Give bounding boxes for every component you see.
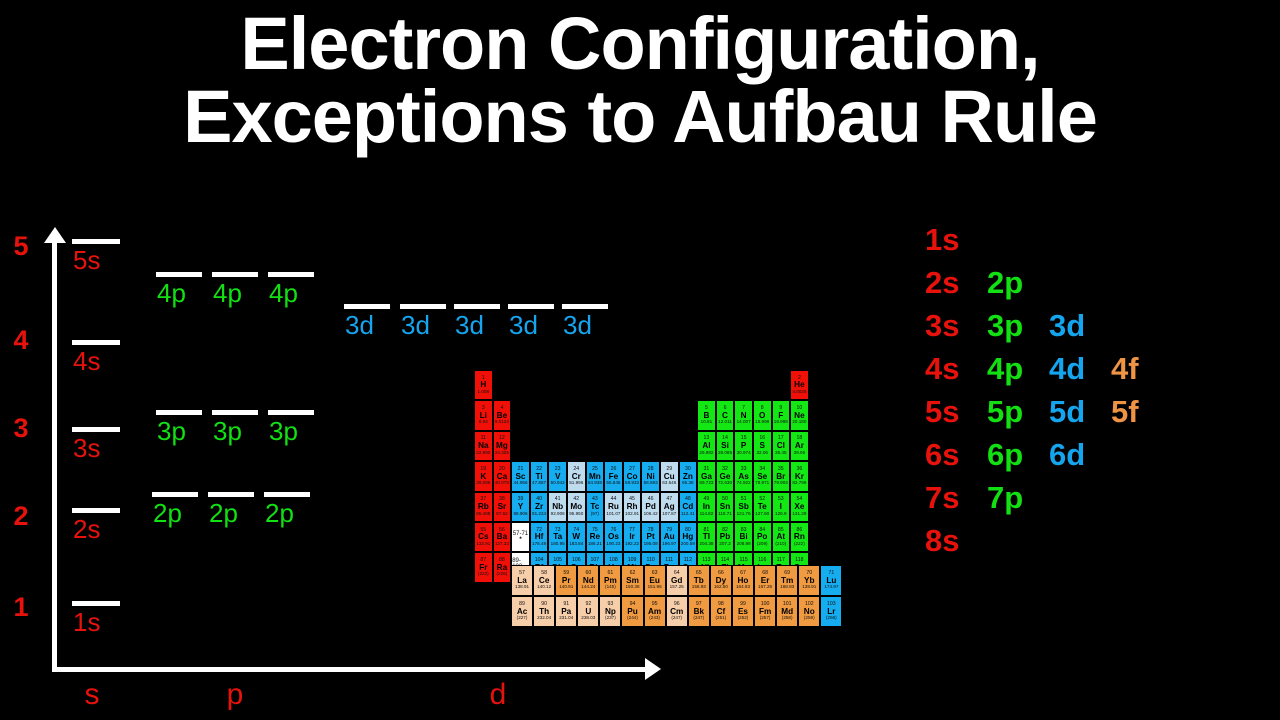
element-cell-Rh[interactable]: 45Rh102.91 — [623, 492, 642, 522]
element-atomic-mass: (266) — [826, 616, 837, 621]
orbital-level-line-3d — [400, 304, 446, 309]
element-cell-Eu[interactable]: 63Eu151.96 — [644, 565, 666, 596]
element-cell-Zr[interactable]: 40Zr91.224 — [530, 492, 549, 522]
periodic-table-gap — [511, 400, 530, 430]
element-cell-Sc[interactable]: 21Sc44.956 — [511, 461, 530, 491]
orbital-type-axis-arrowhead — [645, 658, 661, 680]
element-atomic-mass: 4.0026 — [792, 390, 806, 395]
periodic-table-gap — [679, 370, 698, 400]
element-cell-Sb[interactable]: 51Sb121.76 — [734, 492, 753, 522]
orbital-type-axis-line — [52, 667, 652, 672]
element-symbol: Y — [518, 503, 523, 511]
element-cell-Mo[interactable]: 42Mo95.950 — [567, 492, 586, 522]
periodic-table-gap — [511, 431, 530, 461]
element-cell-Hg[interactable]: 80Hg200.59 — [679, 522, 698, 552]
element-atomic-mass: (247) — [671, 616, 682, 621]
element-cell-Gd[interactable]: 64Gd157.25 — [666, 565, 688, 596]
orbital-level-line-1s — [72, 601, 120, 606]
element-atomic-mass: 178.49 — [532, 542, 546, 547]
element-cell-Ni[interactable]: 28Ni58.693 — [641, 461, 660, 491]
config-orbital-4d: 4d — [1049, 351, 1111, 387]
config-empty-slot — [1111, 523, 1173, 559]
element-symbol: Cd — [682, 503, 693, 511]
config-orbital-2s: 2s — [925, 265, 987, 301]
config-empty-slot — [1049, 222, 1111, 258]
element-cell-Bi[interactable]: 83Bi208.98 — [734, 522, 753, 552]
element-cell-At[interactable]: 85At(210) — [772, 522, 791, 552]
element-cell-Ce[interactable]: 58Ce140.12 — [533, 565, 555, 596]
element-cell-Fm[interactable]: 100Fm(257) — [754, 596, 776, 627]
element-cell-I[interactable]: 53I126.9 — [772, 492, 791, 522]
element-cell-Mg[interactable]: 12Mg24.305 — [493, 431, 512, 461]
orbital-level-label-1s: 1s — [73, 607, 100, 638]
element-cell-Ge[interactable]: 32Ge72.630 — [716, 461, 735, 491]
element-cell-F[interactable]: 9F18.998 — [772, 400, 791, 430]
orbital-level-line-2s — [72, 508, 120, 513]
element-cell-Bk[interactable]: 97Bk(247) — [688, 596, 710, 627]
periodic-table-gap — [604, 400, 623, 430]
orbital-level-line-3p — [212, 410, 258, 415]
config-empty-slot — [1111, 437, 1173, 473]
element-cell-N[interactable]: 7N14.007 — [734, 400, 753, 430]
orbital-level-label-3p: 3p — [157, 416, 186, 447]
periodic-table-gap — [548, 431, 567, 461]
element-atomic-mass: 138.91 — [515, 585, 529, 590]
element-cell-Sn[interactable]: 50Sn118.71 — [716, 492, 735, 522]
orbital-level-line-2p — [264, 492, 310, 497]
element-atomic-mass: 51.996 — [569, 481, 583, 486]
element-cell-As[interactable]: 33As74.922 — [734, 461, 753, 491]
element-atomic-mass: 63.546 — [662, 481, 676, 486]
element-cell-Be[interactable]: 4Be9.0122 — [493, 400, 512, 430]
element-atomic-mass: 14.007 — [737, 420, 751, 425]
element-cell-Ac[interactable]: 89Ac(227) — [511, 596, 533, 627]
element-symbol: Sr — [498, 503, 507, 511]
element-atomic-mass: (247) — [693, 616, 704, 621]
periodic-table-gap — [772, 370, 791, 400]
element-cell-Sr[interactable]: 38Sr87.62 — [493, 492, 512, 522]
element-cell-Tb[interactable]: 65Tb158.93 — [688, 565, 710, 596]
element-atomic-mass: 39.098 — [476, 481, 490, 486]
element-atomic-mass: 126.9 — [775, 512, 787, 517]
periodic-table-gap — [716, 370, 735, 400]
config-empty-slot — [1111, 265, 1173, 301]
element-cell-Fe[interactable]: 26Fe55.845 — [604, 461, 623, 491]
element-atomic-mass: (222) — [794, 542, 805, 547]
element-symbol: Rb — [478, 503, 489, 511]
element-atomic-mass: 140.12 — [537, 585, 551, 590]
periodic-table-gap — [493, 370, 512, 400]
element-atomic-mass: 190.23 — [606, 542, 620, 547]
title-line-2: Exceptions to Aufbau Rule — [0, 81, 1280, 154]
element-atomic-mass: 131.29 — [792, 512, 806, 517]
periodic-table-gap — [567, 400, 586, 430]
element-atomic-mass: 50.942 — [551, 481, 565, 486]
element-cell-Lu[interactable]: 71Lu174.97 — [820, 565, 842, 596]
element-cell-Pd[interactable]: 46Pd106.42 — [641, 492, 660, 522]
element-symbol: Tc — [590, 503, 599, 511]
element-cell-Pa[interactable]: 91Pa231.04 — [555, 596, 577, 627]
element-atomic-mass: 200.59 — [681, 542, 695, 547]
element-cell-Te[interactable]: 52Te127.60 — [753, 492, 772, 522]
element-cell-Cl[interactable]: 17Cl35.45 — [772, 431, 791, 461]
element-symbol: * — [519, 537, 521, 543]
config-empty-slot — [987, 523, 1049, 559]
element-atomic-mass: 6.94 — [479, 420, 488, 425]
orbital-level-line-4p — [156, 272, 202, 277]
orbital-level-label-3d: 3d — [455, 310, 484, 341]
element-cell-Mn[interactable]: 25Mn54.938 — [586, 461, 605, 491]
element-cell-Er[interactable]: 68Er167.26 — [754, 565, 776, 596]
element-atomic-mass: 10.81 — [701, 420, 713, 425]
element-cell-Au[interactable]: 79Au196.97 — [660, 522, 679, 552]
element-atomic-mass: 151.96 — [648, 585, 662, 590]
element-atomic-mass: 231.04 — [559, 616, 573, 621]
orbital-level-line-2p — [152, 492, 198, 497]
element-cell-Na[interactable]: 11Na22.990 — [474, 431, 493, 461]
element-cell-Xe[interactable]: 54Xe131.29 — [790, 492, 809, 522]
orbital-level-label-3d: 3d — [563, 310, 592, 341]
config-empty-slot — [987, 222, 1049, 258]
orbital-level-line-3d — [454, 304, 500, 309]
element-cell-He[interactable]: 2He4.0026 — [790, 370, 809, 400]
element-cell-Tm[interactable]: 69Tm168.93 — [776, 565, 798, 596]
element-atomic-mass: (209) — [757, 542, 768, 547]
slide-title: Electron Configuration, Exceptions to Au… — [0, 8, 1280, 153]
element-atomic-mass: (251) — [716, 616, 727, 621]
element-atomic-mass: 54.938 — [588, 481, 602, 486]
slide-canvas: Electron Configuration, Exceptions to Au… — [0, 0, 1280, 720]
element-atomic-number: 57-71 — [513, 531, 528, 537]
element-cell-Pm[interactable]: 61Pm(145) — [599, 565, 621, 596]
element-cell-Cd[interactable]: 48Cd112.41 — [679, 492, 698, 522]
element-cell-H[interactable]: 1H1.008 — [474, 370, 493, 400]
element-cell-Os[interactable]: 76Os190.23 — [604, 522, 623, 552]
element-cell-Li[interactable]: 3Li6.94 — [474, 400, 493, 430]
element-atomic-mass: (237) — [605, 616, 616, 621]
element-atomic-mass: 28.085 — [718, 451, 732, 456]
element-cell-Am[interactable]: 95Am(243) — [644, 596, 666, 627]
element-atomic-mass: 106.42 — [644, 512, 658, 517]
element-cell-Ti[interactable]: 22Ti47.867 — [530, 461, 549, 491]
element-cell-Re[interactable]: 75Re186.21 — [586, 522, 605, 552]
element-atomic-mass: (252) — [738, 616, 749, 621]
element-cell-Rb[interactable]: 37Rb85.468 — [474, 492, 493, 522]
orbital-level-label-3p: 3p — [213, 416, 242, 447]
element-cell-Pt[interactable]: 78Pt195.08 — [641, 522, 660, 552]
element-cell-La[interactable]: 57La138.91 — [511, 565, 533, 596]
element-atomic-mass: 74.922 — [737, 481, 751, 486]
element-cell-Fr[interactable]: 87Fr(223) — [474, 552, 493, 582]
element-cell-K[interactable]: 19K39.098 — [474, 461, 493, 491]
element-cell-O[interactable]: 8O15.999 — [753, 400, 772, 430]
element-cell-Ta[interactable]: 73Ta180.95 — [548, 522, 567, 552]
config-orbital-7p: 7p — [987, 480, 1049, 516]
orbital-level-line-3p — [156, 410, 202, 415]
element-cell-Po[interactable]: 84Po(209) — [753, 522, 772, 552]
element-cell-S[interactable]: 16S32.06 — [753, 431, 772, 461]
energy-tick-5: 5 — [8, 231, 34, 262]
periodic-table-gap — [604, 370, 623, 400]
element-cell-C[interactable]: 6C12.011 — [716, 400, 735, 430]
orbital-level-label-4p: 4p — [157, 278, 186, 309]
energy-axis-arrowhead — [44, 227, 66, 243]
config-orbital-1s: 1s — [925, 222, 987, 258]
axis-label-s: s — [62, 678, 122, 712]
element-atomic-mass: 118.71 — [718, 512, 732, 517]
element-cell-Kr[interactable]: 36Kr83.798 — [790, 461, 809, 491]
element-cell-Zn[interactable]: 30Zn65.38 — [679, 461, 698, 491]
element-cell-Ca[interactable]: 20Ca40.078 — [493, 461, 512, 491]
element-cell-Ir[interactable]: 77Ir192.22 — [623, 522, 642, 552]
element-atomic-mass: 55.845 — [606, 481, 620, 486]
element-cell-No[interactable]: 102No(259) — [798, 596, 820, 627]
element-atomic-mass: 167.26 — [758, 585, 772, 590]
periodic-table-gap — [679, 400, 698, 430]
element-atomic-mass: 92.906 — [551, 512, 565, 517]
element-atomic-mass: 112.41 — [681, 512, 695, 517]
element-atomic-mass: 87.62 — [496, 512, 508, 517]
orbital-level-line-5s — [72, 239, 120, 244]
element-atomic-mass: 91.224 — [532, 512, 546, 517]
element-atomic-mass: 168.93 — [780, 585, 794, 590]
element-cell-Md[interactable]: 101Md(258) — [776, 596, 798, 627]
config-empty-slot — [1049, 480, 1111, 516]
element-cell-Ar[interactable]: 18Ar39.95 — [790, 431, 809, 461]
periodic-table-gap — [697, 370, 716, 400]
element-atomic-mass: 164.93 — [736, 585, 750, 590]
element-atomic-mass: 35.45 — [775, 451, 787, 456]
orbital-level-line-3d — [562, 304, 608, 309]
orbital-level-line-4p — [212, 272, 258, 277]
periodic-table-gap — [548, 400, 567, 430]
config-orbital-3d: 3d — [1049, 308, 1111, 344]
orbital-level-line-3s — [72, 427, 120, 432]
element-atomic-mass: 18.998 — [774, 420, 788, 425]
element-cell-Ne[interactable]: 10Ne20.180 — [790, 400, 809, 430]
element-atomic-mass: 88.906 — [513, 512, 527, 517]
energy-tick-2: 2 — [8, 501, 34, 532]
orbital-level-label-2s: 2s — [73, 514, 100, 545]
element-cell-Ga[interactable]: 31Ga69.723 — [697, 461, 716, 491]
element-cell-V[interactable]: 23V50.942 — [548, 461, 567, 491]
periodic-table-gap — [623, 370, 642, 400]
periodic-table-gap — [530, 370, 549, 400]
periodic-table-gap — [530, 431, 549, 461]
orbital-level-label-2p: 2p — [153, 498, 182, 529]
orbital-level-label-3d: 3d — [345, 310, 374, 341]
orbital-level-line-3d — [508, 304, 554, 309]
element-cell-Al[interactable]: 13Al26.982 — [697, 431, 716, 461]
element-cell-Yb[interactable]: 70Yb138.91 — [798, 565, 820, 596]
element-cell-Si[interactable]: 14Si28.085 — [716, 431, 735, 461]
element-cell-Sm[interactable]: 62Sm150.36 — [621, 565, 643, 596]
element-cell-Nb[interactable]: 41Nb92.906 — [548, 492, 567, 522]
element-cell-Lr[interactable]: 103Lr(266) — [820, 596, 842, 627]
config-orbital-5f: 5f — [1111, 394, 1173, 430]
orbital-level-label-3s: 3s — [73, 433, 100, 464]
periodic-table-gap — [567, 370, 586, 400]
element-atomic-mass: 12.011 — [718, 420, 732, 425]
orbital-level-label-4s: 4s — [73, 346, 100, 377]
element-cell-Se[interactable]: 34Se78.971 — [753, 461, 772, 491]
orbital-level-line-4s — [72, 340, 120, 345]
element-cell-Y[interactable]: 39Y88.906 — [511, 492, 530, 522]
config-orbital-6d: 6d — [1049, 437, 1111, 473]
element-atomic-mass: 121.76 — [737, 512, 751, 517]
config-empty-slot — [1111, 222, 1173, 258]
element-atomic-mass: 78.971 — [755, 481, 769, 486]
element-cell-Ba[interactable]: 56Ba137.33 — [493, 522, 512, 552]
element-cell-W[interactable]: 74W183.84 — [567, 522, 586, 552]
element-cell-Tc[interactable]: 43Tc(97) — [586, 492, 605, 522]
element-atomic-mass: 157.25 — [670, 585, 684, 590]
element-cell-Cm[interactable]: 96Cm(247) — [666, 596, 688, 627]
element-atomic-mass: 180.95 — [551, 542, 565, 547]
title-line-1: Electron Configuration, — [0, 8, 1280, 81]
element-atomic-mass: 65.38 — [682, 481, 694, 486]
element-cell-Pu[interactable]: 94Pu(244) — [621, 596, 643, 627]
element-atomic-mass: 138.91 — [802, 585, 816, 590]
element-cell-Co[interactable]: 27Co58.933 — [623, 461, 642, 491]
orbital-level-label-2p: 2p — [209, 498, 238, 529]
element-atomic-mass: 107.87 — [662, 512, 676, 517]
element-atomic-mass: 132.91 — [476, 542, 490, 547]
axis-label-p: p — [205, 678, 265, 712]
periodic-table-gap — [660, 400, 679, 430]
periodic-table-gap — [586, 370, 605, 400]
element-cell-Br[interactable]: 35Br79.904 — [772, 461, 791, 491]
element-cell-*[interactable]: 57-71* — [511, 522, 530, 552]
element-atomic-mass: 207.2 — [719, 542, 731, 547]
element-atomic-mass: (223) — [478, 572, 489, 577]
element-cell-Np[interactable]: 93Np(237) — [599, 596, 621, 627]
periodic-table-gap — [753, 370, 772, 400]
element-atomic-mass: 101.07 — [606, 512, 620, 517]
periodic-table-gap — [548, 370, 567, 400]
element-symbol: Mo — [570, 503, 582, 511]
energy-axis-line — [52, 238, 57, 672]
element-cell-Pr[interactable]: 59Pr140.91 — [555, 565, 577, 596]
element-atomic-mass: 26.982 — [699, 451, 713, 456]
periodic-table-gap — [586, 431, 605, 461]
config-empty-slot — [1111, 480, 1173, 516]
element-cell-Ag[interactable]: 47Ag107.87 — [660, 492, 679, 522]
orbital-level-label-5s: 5s — [73, 245, 100, 276]
element-atomic-mass: 1.008 — [478, 390, 490, 395]
config-orbital-6p: 6p — [987, 437, 1049, 473]
element-cell-U[interactable]: 92U238.03 — [577, 596, 599, 627]
element-cell-Nd[interactable]: 60Nd144.24 — [577, 565, 599, 596]
element-atomic-mass: 196.97 — [662, 542, 676, 547]
element-atomic-mass: 140.91 — [559, 585, 573, 590]
element-atomic-mass: 15.999 — [755, 420, 769, 425]
element-symbol: I — [780, 503, 782, 511]
element-atomic-mass: 24.305 — [495, 451, 509, 456]
config-empty-slot — [1111, 308, 1173, 344]
config-orbital-4f: 4f — [1111, 351, 1173, 387]
element-cell-Rn[interactable]: 86Rn(222) — [790, 522, 809, 552]
element-cell-Cf[interactable]: 98Cf(251) — [710, 596, 732, 627]
periodic-table-gap — [734, 370, 753, 400]
element-atomic-mass: (226) — [497, 572, 508, 577]
element-atomic-mass: 174.97 — [824, 585, 838, 590]
element-cell-Cr[interactable]: 24Cr51.996 — [567, 461, 586, 491]
config-empty-slot — [1049, 523, 1111, 559]
periodic-table-gap — [679, 431, 698, 461]
element-cell-Th[interactable]: 90Th232.04 — [533, 596, 555, 627]
config-orbital-8s: 8s — [925, 523, 987, 559]
periodic-table-gap — [623, 400, 642, 430]
element-symbol: Xe — [794, 503, 804, 511]
element-atomic-mass: 183.84 — [569, 542, 583, 547]
element-cell-Ho[interactable]: 67Ho164.93 — [732, 565, 754, 596]
element-symbol: Ag — [664, 503, 675, 511]
element-cell-Pb[interactable]: 82Pb207.2 — [716, 522, 735, 552]
element-cell-Tl[interactable]: 81Tl204.38 — [697, 522, 716, 552]
element-atomic-mass: 114.82 — [700, 512, 714, 517]
element-cell-Ru[interactable]: 44Ru101.07 — [604, 492, 623, 522]
config-orbital-5d: 5d — [1049, 394, 1111, 430]
element-cell-Dy[interactable]: 66Dy162.50 — [710, 565, 732, 596]
config-orbital-5s: 5s — [925, 394, 987, 430]
orbital-level-line-2p — [208, 492, 254, 497]
element-atomic-mass: 208.98 — [737, 542, 751, 547]
element-cell-Ra[interactable]: 88Ra(226) — [493, 552, 512, 582]
orbital-level-label-3d: 3d — [509, 310, 538, 341]
periodic-table-main: 1H1.0082He4.00263Li6.944Be9.01225B10.816… — [474, 370, 809, 583]
element-atomic-mass: 195.08 — [644, 542, 658, 547]
element-atomic-mass: 85.468 — [476, 512, 490, 517]
element-atomic-mass: 22.990 — [476, 451, 490, 456]
periodic-table-gap — [641, 400, 660, 430]
element-atomic-mass: 69.723 — [699, 481, 713, 486]
element-atomic-mass: (227) — [517, 616, 528, 621]
config-orbital-7s: 7s — [925, 480, 987, 516]
energy-tick-1: 1 — [8, 592, 34, 623]
element-atomic-mass: (244) — [627, 616, 638, 621]
element-cell-In[interactable]: 49In114.82 — [697, 492, 716, 522]
element-cell-B[interactable]: 5B10.81 — [697, 400, 716, 430]
element-cell-Es[interactable]: 99Es(252) — [732, 596, 754, 627]
config-orbital-4p: 4p — [987, 351, 1049, 387]
element-atomic-mass: 32.06 — [756, 451, 768, 456]
periodic-table-gap — [660, 431, 679, 461]
element-cell-Hf[interactable]: 72Hf178.49 — [530, 522, 549, 552]
config-empty-slot — [1049, 265, 1111, 301]
element-atomic-mass: 238.03 — [581, 616, 595, 621]
config-orbital-6s: 6s — [925, 437, 987, 473]
element-cell-P[interactable]: 15P30.974 — [734, 431, 753, 461]
element-symbol: Te — [758, 503, 767, 511]
element-atomic-mass: 58.693 — [644, 481, 658, 486]
element-cell-Cu[interactable]: 29Cu63.546 — [660, 461, 679, 491]
element-symbol: Pd — [645, 503, 655, 511]
element-atomic-mass: 44.956 — [513, 481, 527, 486]
orbital-level-line-4p — [268, 272, 314, 277]
element-atomic-mass: 144.24 — [581, 585, 595, 590]
element-atomic-mass: (243) — [649, 616, 660, 621]
element-cell-Cs[interactable]: 55Cs132.91 — [474, 522, 493, 552]
orbital-level-label-3p: 3p — [269, 416, 298, 447]
element-atomic-mass: 232.04 — [537, 616, 551, 621]
config-orbital-5p: 5p — [987, 394, 1049, 430]
orbital-level-label-2p: 2p — [265, 498, 294, 529]
element-atomic-mass: 83.798 — [792, 481, 806, 486]
periodic-table-gap — [586, 400, 605, 430]
orbital-level-label-4p: 4p — [213, 278, 242, 309]
periodic-table-gap — [641, 370, 660, 400]
